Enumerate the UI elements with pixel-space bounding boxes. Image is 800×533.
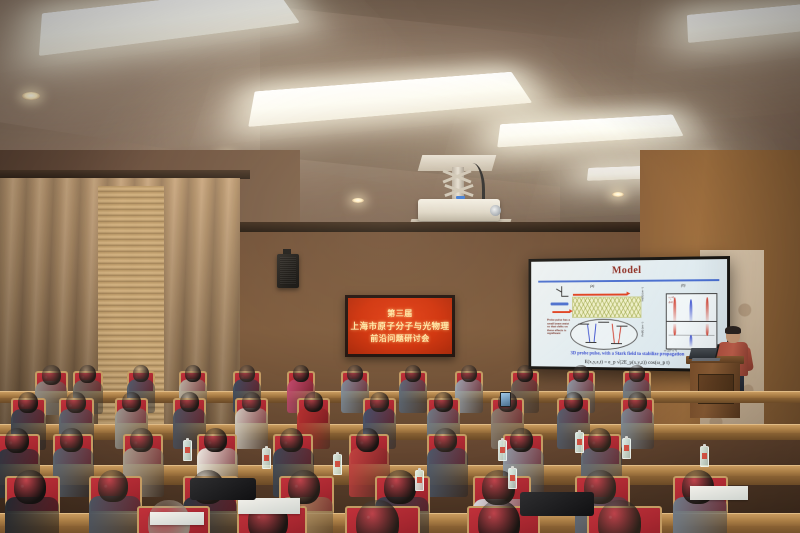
audience-member-head <box>280 428 303 452</box>
audience-member-head <box>517 365 533 382</box>
audience-member-head <box>242 392 261 412</box>
coordinate-axes-icon <box>556 286 568 298</box>
medium-lattice <box>572 296 641 318</box>
audience-member-head <box>133 365 149 382</box>
audience-member-head <box>564 392 583 412</box>
conference-booklet <box>150 512 204 525</box>
audience-member-head <box>347 365 363 382</box>
water-bottle <box>333 454 342 475</box>
projector-lens-icon <box>490 205 501 216</box>
audience-member-head <box>130 428 153 452</box>
audience-member-body <box>399 379 427 413</box>
audience-member-head <box>204 428 227 452</box>
audience-member-head <box>510 428 533 452</box>
audience-member <box>8 470 52 533</box>
laptop-bag <box>520 492 594 516</box>
chart-y-axis-label-bottom: Re(K) (cm⁻¹) <box>641 322 644 337</box>
audience-member <box>56 428 88 488</box>
probe-beam-arrow <box>552 311 570 312</box>
presenter-hair <box>725 326 741 334</box>
audience-member-head <box>434 428 457 452</box>
audience-member-head <box>405 365 421 382</box>
audience-member-head <box>180 392 199 412</box>
smartphone <box>500 392 511 407</box>
wall-speaker <box>277 254 299 288</box>
audience-member-head <box>628 392 647 412</box>
banner-line-2: 上海市原子分子与光物理 <box>350 320 449 332</box>
ceiling-light-panel-4 <box>687 4 800 43</box>
water-bottle <box>415 470 424 491</box>
audience-member <box>676 470 720 533</box>
audience-member <box>348 500 408 533</box>
audience-member-head <box>573 365 589 382</box>
audience-member <box>430 428 462 488</box>
audience-member-head <box>5 428 29 453</box>
audience-member-head <box>598 500 641 533</box>
audience-member-head <box>42 365 61 385</box>
audience-member-head <box>629 365 645 382</box>
audience-member-head <box>14 470 46 504</box>
downlight-icon <box>352 198 364 203</box>
conference-booklet <box>690 486 748 500</box>
slide-title: Model <box>531 263 727 277</box>
slide-annotation-text: Probe pulse has a small beam waist so th… <box>547 319 570 336</box>
audience-member-head <box>461 365 477 382</box>
conference-booklet <box>238 498 300 514</box>
audience-member-head <box>384 470 416 504</box>
audience-member-head <box>18 392 38 413</box>
audience-member-head <box>98 470 128 502</box>
audience-member-head <box>122 392 141 412</box>
projector-power-led <box>456 196 465 199</box>
audience-member <box>402 365 424 407</box>
water-bottle <box>622 438 631 459</box>
water-bottle <box>575 432 584 453</box>
audience-member <box>458 365 480 407</box>
laptop-bag <box>190 478 256 500</box>
audience-member-head <box>356 500 399 533</box>
wall-ceiling-trim <box>240 222 660 232</box>
audience-member-body <box>235 408 268 449</box>
banner-line-1: 第三届 <box>387 308 413 319</box>
speaker-grille-icon <box>280 257 296 285</box>
audience-member-head <box>239 365 255 382</box>
audience-member-head <box>66 392 86 413</box>
audience-member-head <box>185 365 201 382</box>
lecture-hall-photo: 第三届 上海市原子分子与光物理 前沿问题研讨会 Model (a) <box>0 0 800 533</box>
water-bottle <box>262 448 271 469</box>
downlight-icon <box>22 92 40 100</box>
audience-member-body <box>427 448 468 497</box>
panel-b-label: (b) <box>681 282 686 287</box>
water-bottle <box>498 440 507 461</box>
projector-body <box>418 199 500 221</box>
probe-pulse-shape <box>551 302 569 304</box>
audience-member-head <box>434 392 453 412</box>
audience <box>0 340 800 533</box>
downlight-icon <box>612 192 624 197</box>
audience-member-head <box>478 500 520 533</box>
pump-beam-arrow <box>573 294 628 296</box>
water-bottle <box>183 440 192 461</box>
slide-title-rule <box>538 279 719 282</box>
panel-a-label: (a) <box>590 283 594 288</box>
ceiling-projector-mount <box>404 155 516 227</box>
audience-member <box>590 500 650 533</box>
audience-member-head <box>356 428 379 452</box>
audience-member-head <box>588 428 611 452</box>
audience-member <box>238 392 264 443</box>
audience-member-head <box>293 365 309 382</box>
audience-member-head <box>304 392 323 412</box>
audience-member-head <box>60 428 83 452</box>
water-bottle <box>700 446 709 467</box>
audience-member-head <box>370 392 389 412</box>
audience-member-head <box>79 365 96 383</box>
chart-im-k: ωc=0Δ=0 <box>666 293 718 322</box>
audience-member <box>92 470 134 533</box>
water-bottle <box>508 468 517 489</box>
chart-y-axis-label-top: Im(K) (cm⁻¹) <box>641 287 644 301</box>
